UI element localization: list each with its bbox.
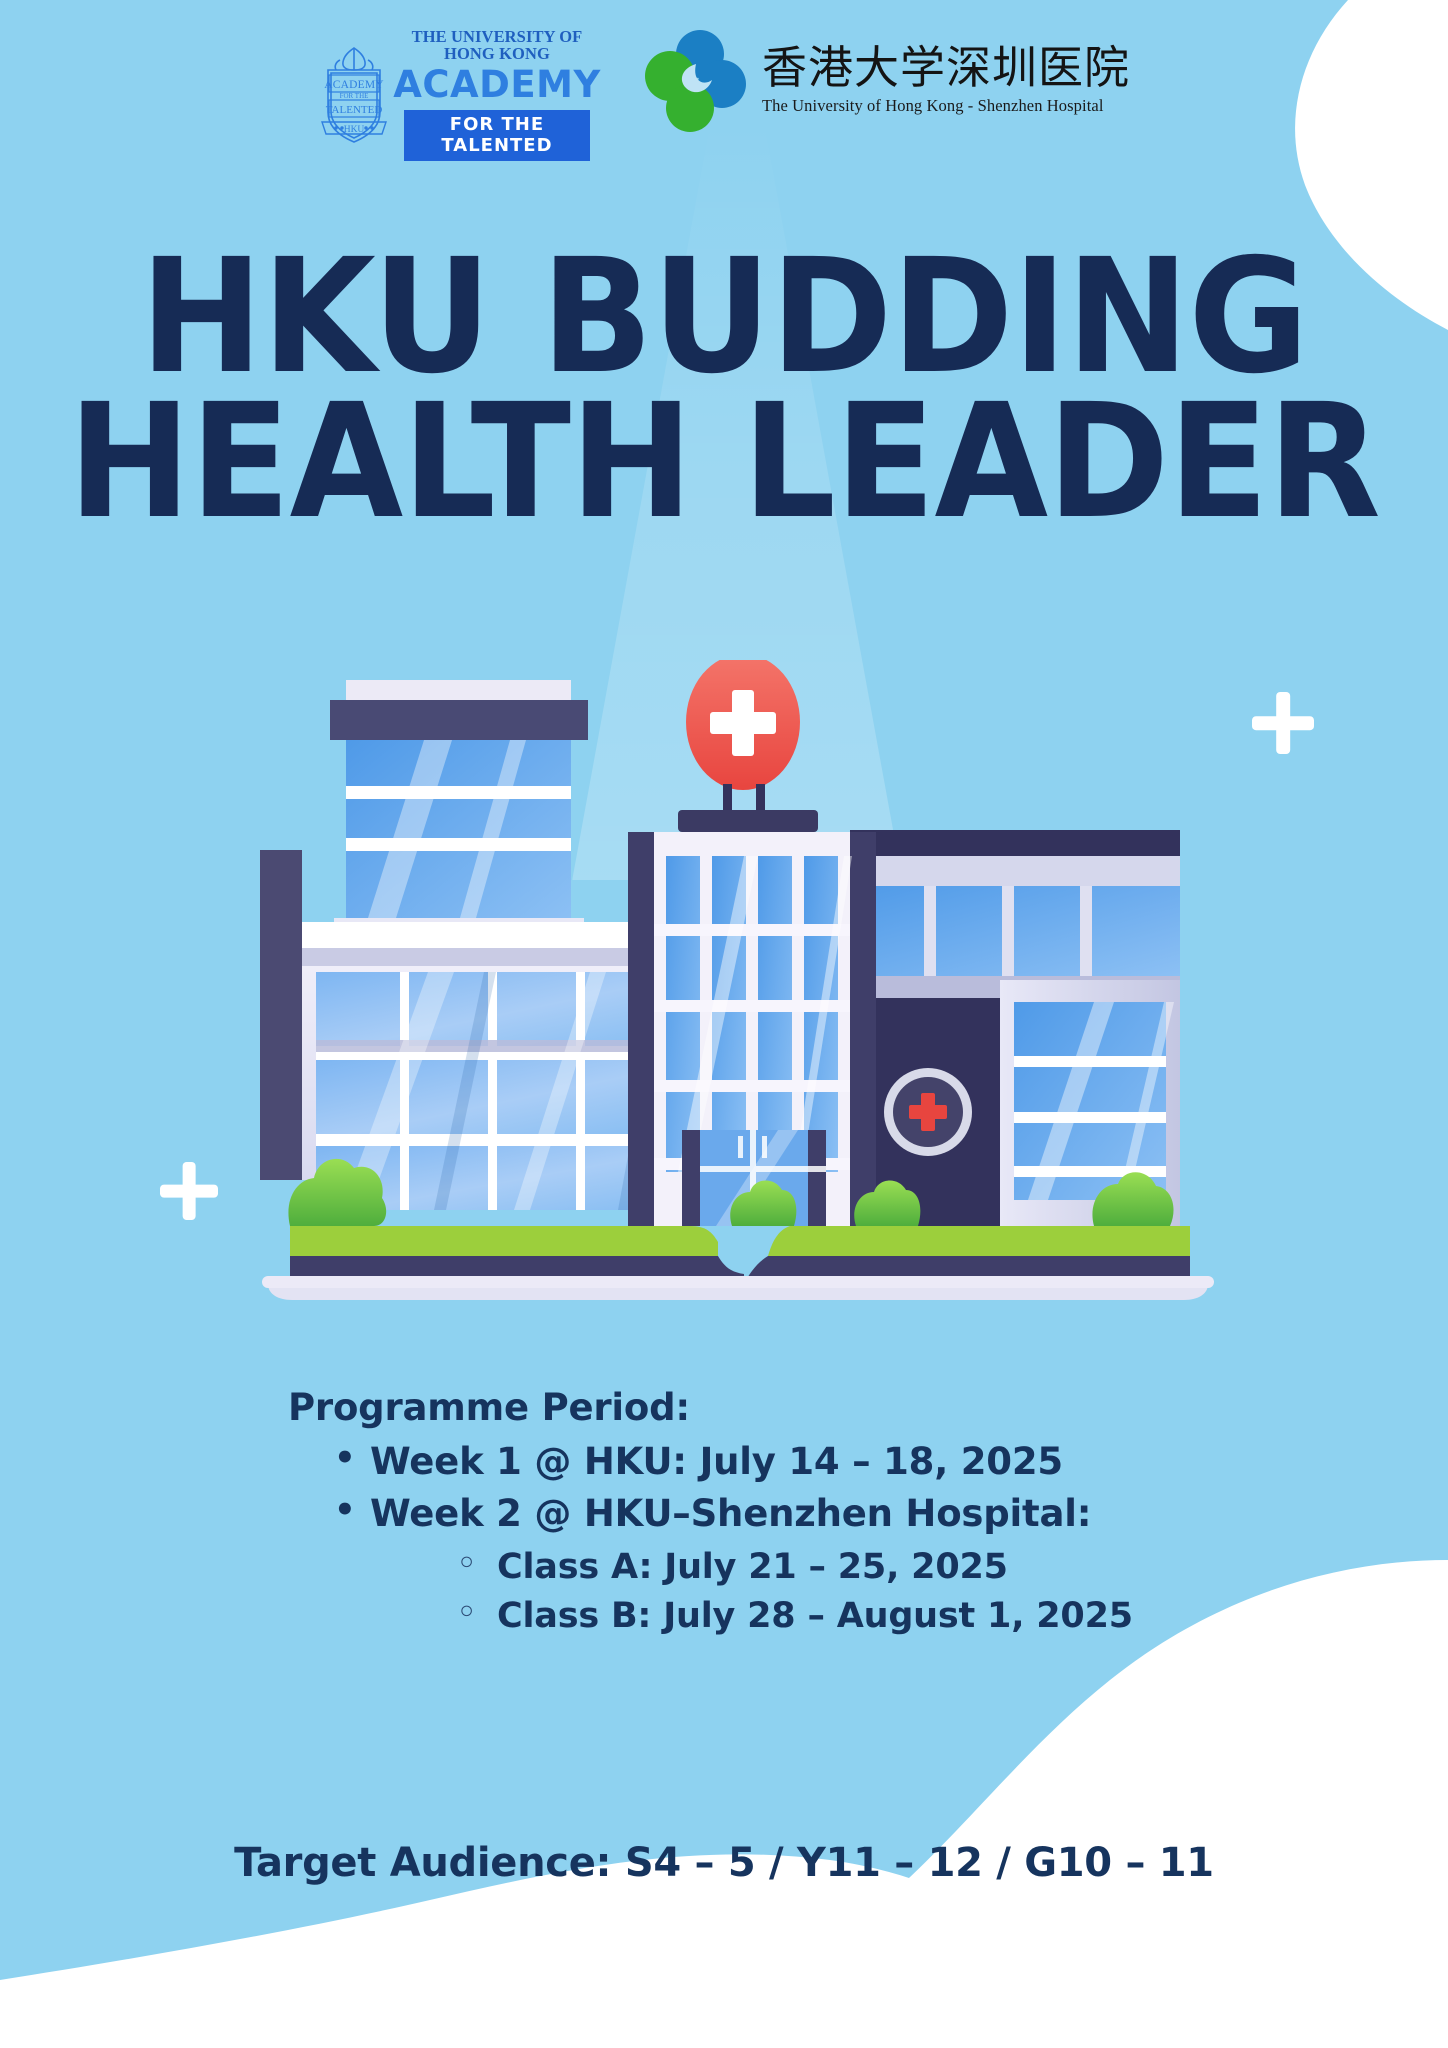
programme-period-list: Week 1 @ HKU: July 14 – 18, 2025 Week 2 …: [330, 1436, 1448, 1642]
class-schedule-list: Class A: July 21 – 25, 2025 Class B: Jul…: [455, 1543, 1448, 1642]
header-logos: ACADEMY FOR THE TALENTED HKU THE UNIVERS…: [0, 28, 1448, 161]
hku-shenzhen-hospital-logo: 香港大学深圳医院 The University of Hong Kong - S…: [638, 28, 1130, 132]
title-line-2: HEALTH LEADER: [51, 390, 1398, 535]
academy-wordmark: ACADEMY: [393, 66, 601, 105]
academy-tagline-bar: FOR THE TALENTED: [404, 110, 590, 161]
academy-wordmark-block: THE UNIVERSITY OF HONG KONG ACADEMY FOR …: [404, 28, 590, 161]
clover-logo-icon: [638, 28, 746, 132]
list-item: Week 1 @ HKU: July 14 – 18, 2025: [330, 1436, 1448, 1489]
poster-title: HKU BUDDING HEALTH LEADER: [0, 245, 1448, 536]
list-item: Week 2 @ HKU–Shenzhen Hospital: Class A:…: [330, 1488, 1448, 1642]
svg-text:HKU: HKU: [344, 125, 365, 135]
title-line-1: HKU BUDDING: [51, 245, 1398, 390]
hospital-name-chinese: 香港大学深圳医院: [762, 44, 1130, 93]
svg-text:TALENTED: TALENTED: [326, 104, 383, 116]
plus-cross-icon-left: [160, 1162, 218, 1220]
bullet-text: Week 2 @ HKU–Shenzhen Hospital:: [370, 1492, 1091, 1535]
hku-academy-logo: ACADEMY FOR THE TALENTED HKU THE UNIVERS…: [318, 28, 590, 161]
hospital-name-english: The University of Hong Kong - Shenzhen H…: [762, 96, 1130, 116]
target-audience-line: Target Audience: S4 – 5 / Y11 – 12 / G10…: [0, 1840, 1448, 1886]
plus-cross-icon-right: [1252, 692, 1314, 754]
list-item: Class B: July 28 – August 1, 2025: [455, 1592, 1448, 1642]
bullet-text: Week 1 @ HKU: July 14 – 18, 2025: [370, 1440, 1063, 1483]
programme-info: Programme Period: Week 1 @ HKU: July 14 …: [0, 1380, 1448, 1642]
hospital-name-block: 香港大学深圳医院 The University of Hong Kong - S…: [762, 44, 1130, 117]
academy-univ-line1: THE UNIVERSITY OF: [412, 28, 583, 45]
hku-crest-icon: ACADEMY FOR THE TALENTED HKU: [318, 42, 390, 146]
svg-text:ACADEMY: ACADEMY: [324, 79, 384, 91]
programme-period-heading: Programme Period:: [288, 1380, 1448, 1436]
svg-text:FOR THE: FOR THE: [340, 92, 369, 100]
poster-canvas: ACADEMY FOR THE TALENTED HKU THE UNIVERS…: [0, 0, 1448, 2048]
list-item: Class A: July 21 – 25, 2025: [455, 1543, 1448, 1593]
academy-univ-line2: HONG KONG: [444, 45, 550, 62]
hospital-building-illustration: [238, 660, 1238, 1300]
